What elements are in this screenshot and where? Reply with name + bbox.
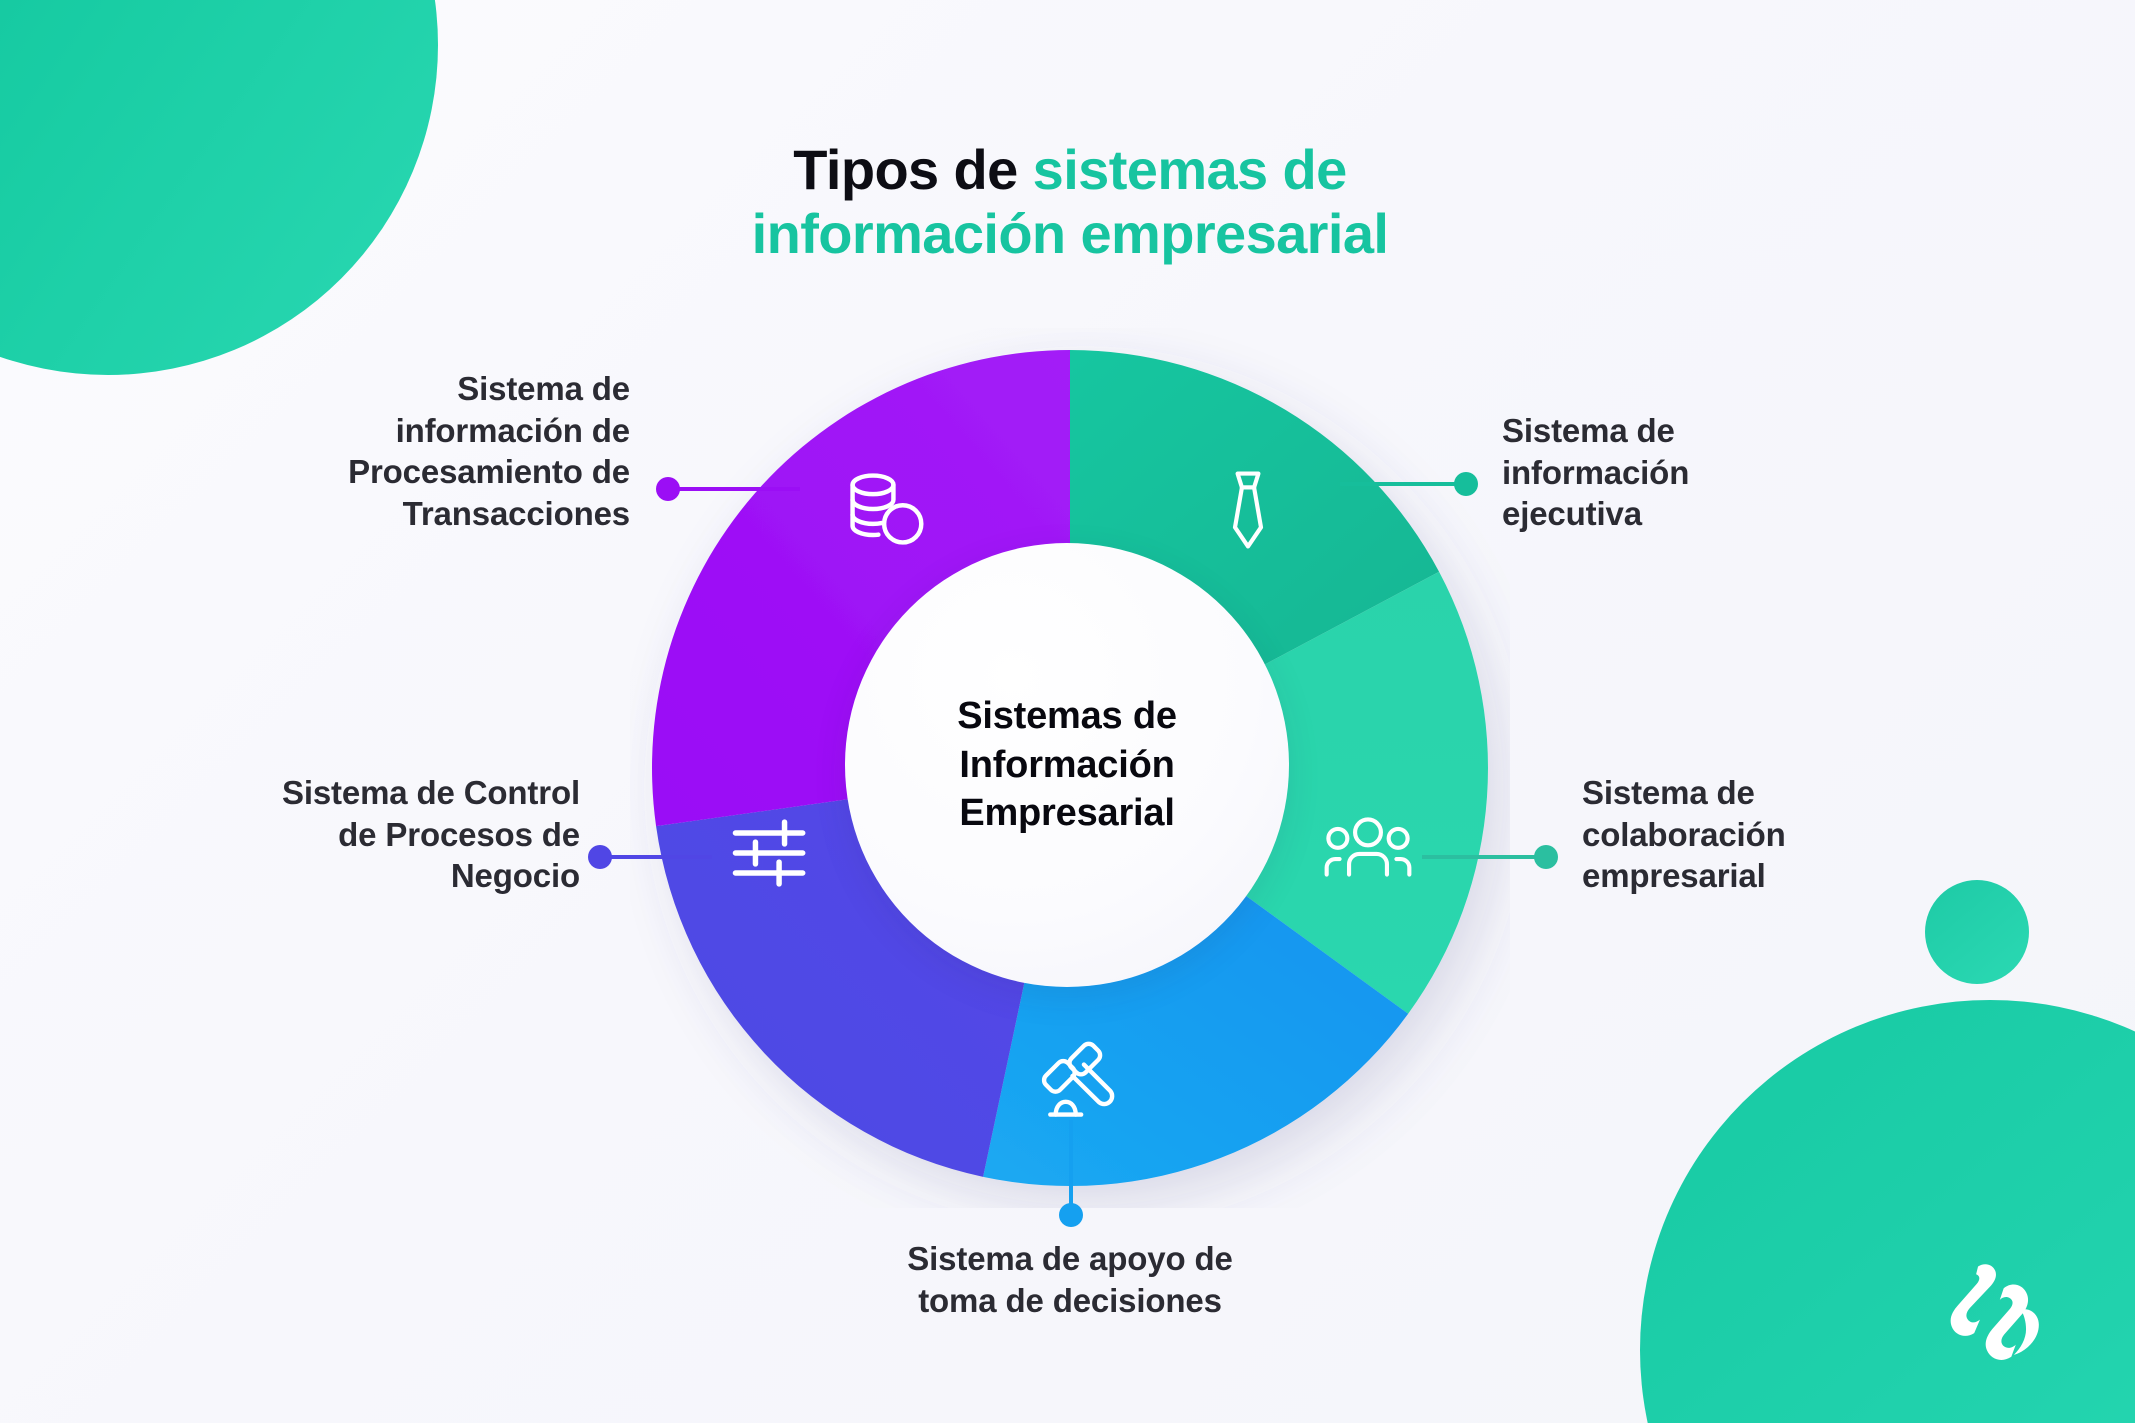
label-bpcs: Sistema de Control de Procesos de Negoci… (80, 772, 580, 897)
title-plain-part: Tipos de (793, 138, 1032, 201)
label-tps: Sistema de información de Procesamiento … (130, 368, 630, 534)
company-logo-mark (1938, 1248, 2068, 1376)
donut-center-hub: Sistemas de Información Empresarial (845, 543, 1289, 987)
title-accent-part-2: información empresarial (752, 202, 1389, 265)
connector-dot-ecs (1534, 845, 1558, 869)
connector-dot-bpcs (588, 845, 612, 869)
sliders-icon (730, 818, 810, 888)
people-group-icon (1322, 816, 1414, 878)
center-label: Sistemas de Información Empresarial (957, 692, 1177, 838)
label-ecs: Sistema de colaboración empresarial (1582, 772, 2062, 897)
page-title: Tipos de sistemas deinformación empresar… (430, 138, 1710, 268)
label-dss: Sistema de apoyo de toma de decisiones (770, 1238, 1370, 1321)
infographic-canvas: Tipos de sistemas deinformación empresar… (0, 0, 2135, 1423)
decorative-circle-top-left (0, 0, 438, 375)
gavel-icon (1040, 1040, 1126, 1120)
label-eis: Sistema de información ejecutiva (1502, 410, 1982, 535)
database-stack-icon (845, 470, 927, 548)
title-accent-part-1: sistemas de (1033, 138, 1347, 201)
necktie-icon (1222, 468, 1274, 552)
